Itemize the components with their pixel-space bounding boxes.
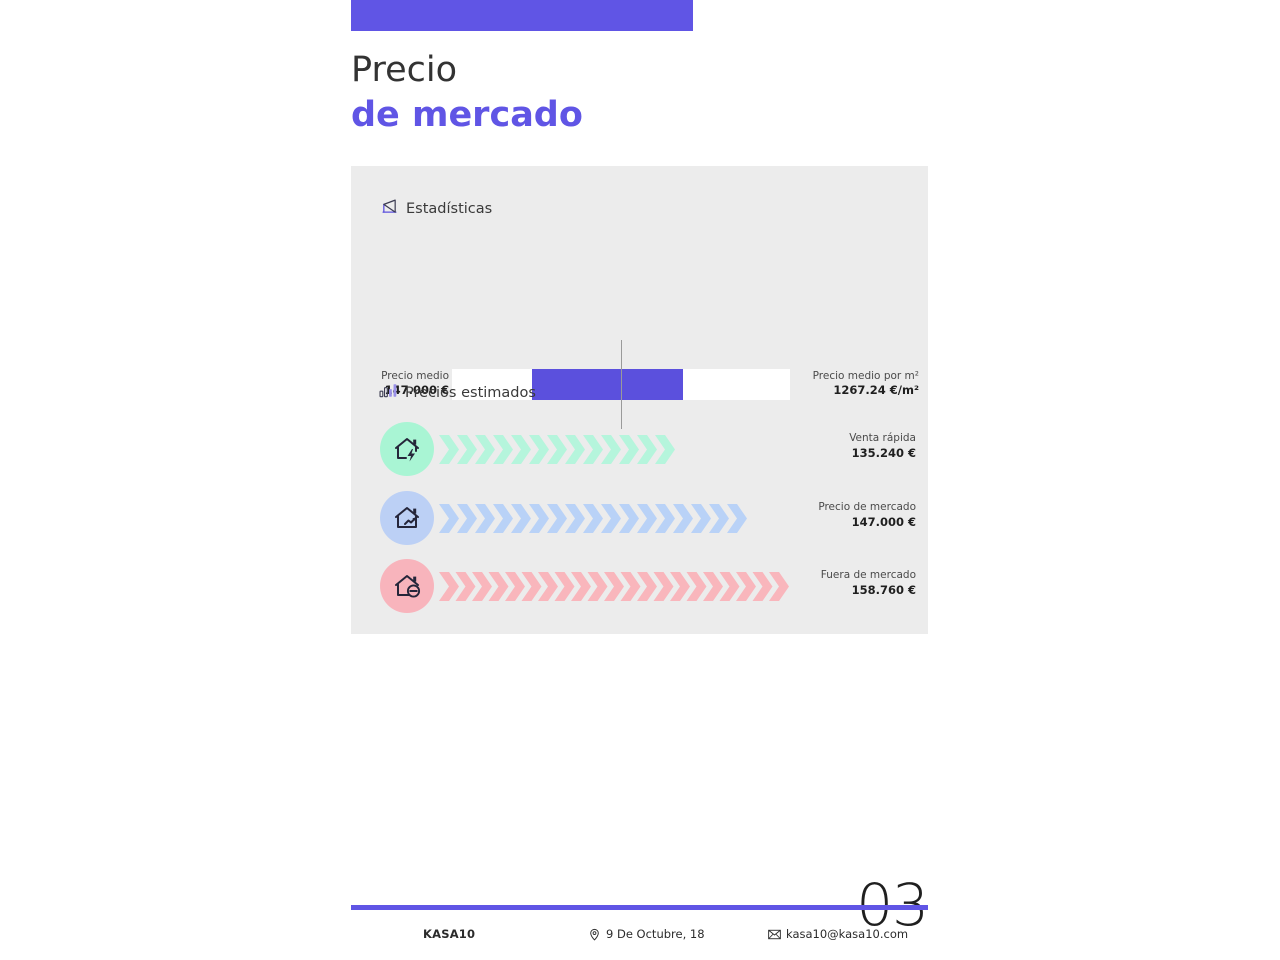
footer-address: 9 De Octubre, 18 <box>588 927 705 941</box>
envelope-icon <box>768 929 781 940</box>
chevron-bar-market-price <box>439 502 758 535</box>
footer: KASA10 9 De Octubre, 18 kasa10@kasa10.co… <box>351 927 928 949</box>
estimated-price-row: Venta rápida 135.240 € <box>351 422 928 478</box>
estimated-price-title: Precio de mercado <box>818 501 916 515</box>
house-no-entry-badge <box>380 559 434 613</box>
estimated-price-value: 158.760 € <box>821 583 916 598</box>
location-pin-icon <box>588 928 601 941</box>
average-price-per-sqm-label-text: Precio medio por m² <box>791 370 919 383</box>
house-trend-badge <box>380 491 434 545</box>
statistics-section-header: Estadísticas <box>381 198 492 219</box>
statistics-section-label: Estadísticas <box>406 201 492 217</box>
estimated-price-value: 135.240 € <box>849 446 916 461</box>
footer-email-label: kasa10@kasa10.com <box>786 927 908 941</box>
house-lightning-icon <box>391 433 423 465</box>
estimated-price-label-fast-sale: Venta rápida 135.240 € <box>849 432 916 461</box>
footer-brand-label: KASA10 <box>423 927 475 941</box>
footer-email[interactable]: kasa10@kasa10.com <box>768 927 908 941</box>
top-accent-bar <box>351 0 693 31</box>
chevron-bar-out-of-market <box>439 570 796 603</box>
footer-divider <box>351 905 928 910</box>
estimated-price-value: 147.000 € <box>818 515 916 530</box>
house-no-entry-icon <box>391 570 423 602</box>
estimated-price-row: Fuera de mercado 158.760 € <box>351 559 928 615</box>
house-trend-up-icon <box>391 502 423 534</box>
estimated-price-label-market-price: Precio de mercado 147.000 € <box>818 501 916 530</box>
estimated-prices-section-label: Precios estimados <box>405 385 536 401</box>
page-title: Precio de mercado <box>351 48 911 138</box>
market-price-panel: Estadísticas Precio medio 147.000 € Prec… <box>351 166 928 634</box>
average-price-boxplot: Precio medio 147.000 € Precio medio por … <box>351 266 928 362</box>
average-price-per-sqm-value: 1267.24 €/m² <box>791 383 919 398</box>
footer-address-label: 9 De Octubre, 18 <box>606 927 705 941</box>
footer-brand: KASA10 <box>423 927 475 941</box>
estimated-price-label-out-of-market: Fuera de mercado 158.760 € <box>821 569 916 598</box>
average-price-per-sqm-label: Precio medio por m² 1267.24 €/m² <box>791 370 919 398</box>
page-title-line-2: de mercado <box>351 93 911 138</box>
line-chart-icon <box>381 198 398 219</box>
page-title-line-1: Precio <box>351 48 911 93</box>
house-lightning-badge <box>380 422 434 476</box>
estimated-prices-section-header: Precios estimados <box>379 382 536 403</box>
estimated-price-row: Precio de mercado 147.000 € <box>351 491 928 547</box>
bar-chart-icon <box>379 382 397 403</box>
boxplot-median-line <box>621 340 622 429</box>
estimated-price-title: Venta rápida <box>849 432 916 446</box>
boxplot-range-box <box>532 369 683 400</box>
chevron-bar-fast-sale <box>439 433 679 466</box>
estimated-price-title: Fuera de mercado <box>821 569 916 583</box>
